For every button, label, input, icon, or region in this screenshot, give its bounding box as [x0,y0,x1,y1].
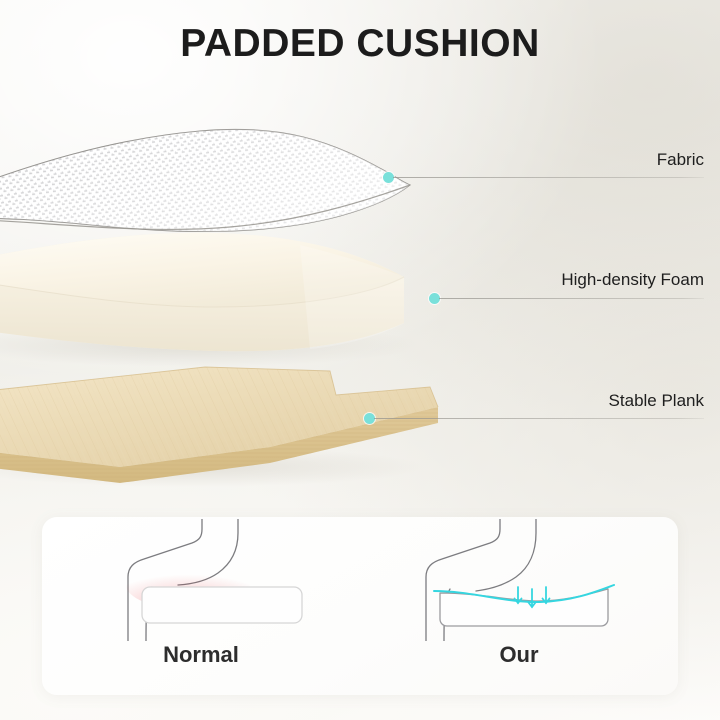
normal-illustration [42,519,360,641]
callout-label-foam: High-density Foam [434,270,704,290]
comparison-label-our: Our [360,642,678,668]
our-illustration [360,519,678,641]
callout-leader-line [393,177,704,178]
callout-leader-line [439,298,704,299]
contoured-cushion [440,589,608,626]
callout-leader-line [374,418,704,419]
comparison-label-normal: Normal [42,642,360,668]
comparison-normal: Normal [42,517,360,695]
comparison-our: Our [360,517,678,695]
infographic-page: PADDED CUSHION [0,0,720,720]
callout-label-fabric: Fabric [504,150,704,170]
callout-label-plank: Stable Plank [464,391,704,411]
comparison-card: Normal [42,517,678,695]
page-title: PADDED CUSHION [0,22,720,66]
fabric-layer [0,129,410,231]
flat-cushion [142,587,302,623]
foam-layer [0,233,404,351]
